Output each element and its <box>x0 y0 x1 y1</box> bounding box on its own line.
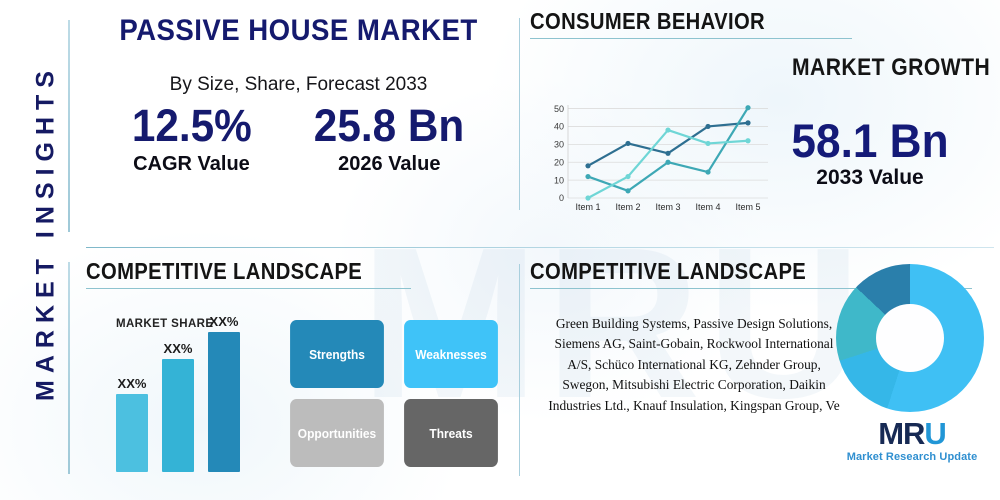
mru-logo: MRU Market Research Update <box>842 418 982 463</box>
market-growth-caption: 2033 Value <box>770 166 970 190</box>
market-share-bar-value: XX% <box>156 341 200 356</box>
line-chart-svg: 01020304050Item 1Item 2Item 3Item 4Item … <box>542 100 772 218</box>
svg-text:20: 20 <box>554 157 564 167</box>
consumer-behavior-panel: CONSUMER BEHAVIOR MARKET GROWTH 01020304… <box>530 8 992 240</box>
consumer-behavior-line-chart: 01020304050Item 1Item 2Item 3Item 4Item … <box>542 100 772 218</box>
market-share-bar-value: XX% <box>110 376 154 391</box>
swot-weaknesses[interactable]: Weaknesses <box>404 320 498 388</box>
kpi-2026: 25.8 Bn 2026 Value <box>309 102 469 176</box>
svg-text:10: 10 <box>554 175 564 185</box>
market-share-chart-title: MARKET SHARE <box>116 318 213 330</box>
market-growth-label: MARKET GROWTH <box>792 54 990 82</box>
svg-text:Item 1: Item 1 <box>575 202 600 212</box>
competitive-landscape-left-title: COMPETITIVE LANDSCAPE <box>86 258 460 285</box>
market-share-bar <box>116 394 148 472</box>
svg-text:40: 40 <box>554 122 564 132</box>
logo-letter-r: R <box>903 416 924 451</box>
swot-strengths-label: Strengths <box>309 347 365 362</box>
swot-threats-label: Threats <box>429 426 472 441</box>
swot-weaknesses-label: Weaknesses <box>415 347 487 362</box>
market-share-donut-chart <box>836 264 984 412</box>
competitive-landscape-right-panel: COMPETITIVE LANDSCAPE Green Building Sys… <box>530 258 992 490</box>
swot-threats[interactable]: Threats <box>404 399 498 467</box>
svg-text:0: 0 <box>559 193 564 203</box>
consumer-behavior-title: CONSUMER BEHAVIOR <box>530 8 937 35</box>
vertical-divider-top <box>519 18 520 210</box>
market-share-bar-value: XX% <box>202 314 246 329</box>
svg-text:30: 30 <box>554 140 564 150</box>
header-rule <box>86 288 411 289</box>
competitive-landscape-left-header: COMPETITIVE LANDSCAPE <box>86 258 511 289</box>
swot-strengths[interactable]: Strengths <box>290 320 384 388</box>
kpi-cagr: 12.5% CAGR Value <box>128 102 256 176</box>
title-panel: PASSIVE HOUSE MARKET By Size, Share, For… <box>86 8 511 240</box>
market-share-bar <box>208 332 240 472</box>
svg-text:Item 4: Item 4 <box>695 202 720 212</box>
company-list: Green Building Systems, Passive Design S… <box>544 314 844 416</box>
kpi-2026-label: 2026 Value <box>309 153 469 176</box>
consumer-behavior-header: CONSUMER BEHAVIOR <box>530 8 992 39</box>
side-banner-label: MARKET INSIGHTS <box>32 23 61 443</box>
svg-text:Item 2: Item 2 <box>615 202 640 212</box>
kpi-cagr-label: CAGR Value <box>128 153 256 176</box>
kpi-cagr-value: 12.5% <box>131 102 251 151</box>
kpi-row: 12.5% CAGR Value 25.8 Bn 2026 Value <box>86 102 511 176</box>
market-growth-value-block: 58.1 Bn 2033 Value <box>770 116 970 190</box>
vertical-divider-bottom <box>519 264 520 476</box>
svg-text:Item 3: Item 3 <box>655 202 680 212</box>
mru-logo-wordmark: MRU <box>842 418 982 449</box>
svg-text:50: 50 <box>554 104 564 114</box>
side-banner-rule-bottom <box>68 262 70 474</box>
svg-text:Item 5: Item 5 <box>735 202 760 212</box>
side-banner-rule-top <box>68 20 70 232</box>
market-share-bar <box>162 359 194 472</box>
swot-opportunities[interactable]: Opportunities <box>290 399 384 467</box>
swot-grid: Strengths Weaknesses Opportunities Threa… <box>286 320 502 467</box>
page-title: PASSIVE HOUSE MARKET <box>103 14 494 48</box>
logo-letter-u: U <box>924 416 945 451</box>
market-growth-value: 58.1 Bn <box>776 116 964 165</box>
page-subtitle: By Size, Share, Forecast 2033 <box>86 74 511 96</box>
logo-letter-m: M <box>878 416 903 451</box>
mru-logo-tagline: Market Research Update <box>842 451 982 463</box>
infographic-poster: MRU MARKET INSIGHTS PASSIVE HOUSE MARKET… <box>0 0 1000 500</box>
side-banner: MARKET INSIGHTS <box>0 0 68 500</box>
horizontal-divider <box>86 247 994 248</box>
kpi-2026-value: 25.8 Bn <box>314 102 464 151</box>
header-rule <box>530 38 852 39</box>
market-share-bar-chart: MARKET SHARE XX%XX%XX% <box>102 318 282 478</box>
competitive-landscape-left-panel: COMPETITIVE LANDSCAPE MARKET SHARE XX%XX… <box>86 258 511 490</box>
swot-opportunities-label: Opportunities <box>298 426 376 441</box>
